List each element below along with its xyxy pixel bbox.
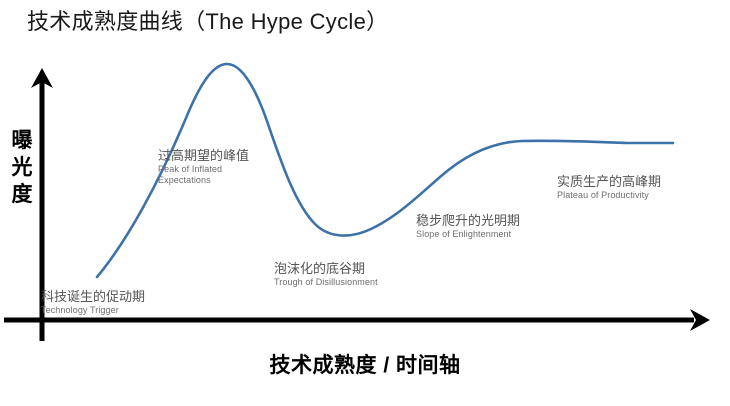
annotation-plateau-of-productivity: 实质生产的高峰期 Plateau of Productivity xyxy=(557,174,661,201)
annotation-en-text-line2: Expectations xyxy=(158,175,249,186)
annotation-cn-text: 科技诞生的促动期 xyxy=(41,289,145,305)
annotation-cn-text: 泡沫化的底谷期 xyxy=(274,261,378,277)
annotation-en-text: Technology Trigger xyxy=(41,305,145,316)
y-axis-label-char-2: 光 xyxy=(8,154,36,181)
annotation-slope-of-enlightenment: 稳步爬升的光明期 Slope of Enlightenment xyxy=(416,213,520,240)
annotation-cn-text: 过高期望的峰值 xyxy=(158,148,249,164)
annotation-peak-of-inflated-expectations: 过高期望的峰值 Peak of Inflated Expectations xyxy=(158,148,249,186)
y-axis-label-char-1: 曝 xyxy=(8,127,36,154)
y-axis-label: 曝 光 度 xyxy=(8,127,36,208)
annotation-cn-text: 实质生产的高峰期 xyxy=(557,174,661,190)
annotation-en-text: Slope of Enlightenment xyxy=(416,229,520,240)
annotation-cn-text: 稳步爬升的光明期 xyxy=(416,213,520,229)
annotation-en-text: Peak of Inflated xyxy=(158,164,249,175)
hype-cycle-diagram: 技术成熟度曲线（The Hype Cycle） 曝 光 度 技术成熟度 / 时间… xyxy=(0,0,730,406)
annotation-trough-of-disillusionment: 泡沫化的底谷期 Trough of Disillusionment xyxy=(274,261,378,288)
annotation-en-text: Plateau of Productivity xyxy=(557,190,661,201)
x-axis-label: 技术成熟度 / 时间轴 xyxy=(0,349,730,379)
annotation-technology-trigger: 科技诞生的促动期 Technology Trigger xyxy=(41,289,145,316)
annotation-en-text: Trough of Disillusionment xyxy=(274,277,378,288)
y-axis-label-char-3: 度 xyxy=(8,181,36,208)
plot-canvas xyxy=(0,0,730,406)
